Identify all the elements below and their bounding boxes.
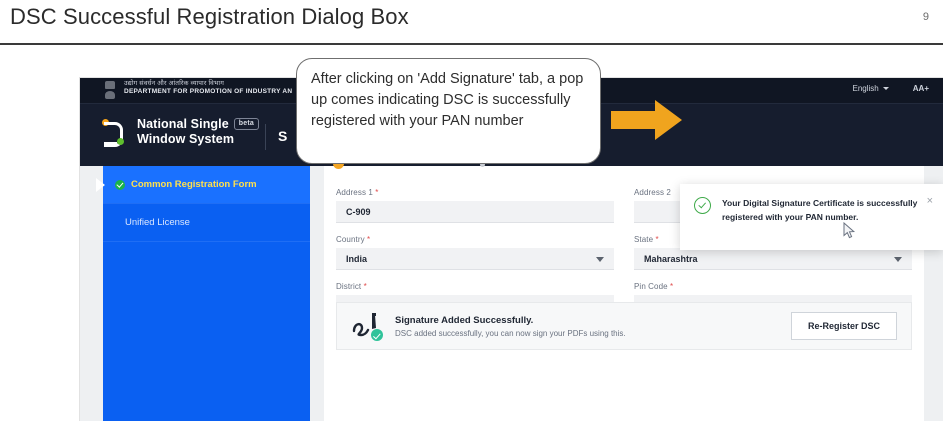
toast-message: Your Digital Signature Certificate is su… xyxy=(722,196,927,238)
page-number: 9 xyxy=(923,11,929,23)
signature-texts: Signature Added Successfully. DSC added … xyxy=(395,315,791,338)
font-size-control[interactable]: AA+ xyxy=(913,84,929,93)
field-label-text: Address 1 xyxy=(336,188,373,197)
state-select[interactable]: Maharashtra xyxy=(634,248,912,270)
field-value: India xyxy=(346,254,367,264)
check-badge-icon xyxy=(371,329,383,341)
brand-divider xyxy=(265,124,266,150)
signature-pen-icon xyxy=(351,311,385,341)
required-marker: * xyxy=(364,282,367,291)
required-marker: * xyxy=(367,235,370,244)
field-label: Address 1 * xyxy=(336,188,614,197)
slide-header: DSC Successful Registration Dialog Box 9 xyxy=(0,0,943,44)
field-value: C-909 xyxy=(346,207,371,217)
header-divider xyxy=(0,43,943,45)
success-check-circle-icon xyxy=(694,197,711,214)
field-label-text: Address 2 xyxy=(634,188,671,197)
language-label: English xyxy=(853,84,879,93)
brand-line-2: Window System xyxy=(137,132,234,146)
required-marker: * xyxy=(656,235,659,244)
language-selector[interactable]: English xyxy=(853,84,889,93)
chevron-down-icon xyxy=(883,87,889,90)
callout-bubble: After clicking on 'Add Signature' tab, a… xyxy=(296,58,601,164)
department-name-english: DEPARTMENT FOR PROMOTION OF INDUSTRY AN xyxy=(124,88,292,96)
field-label: Country * xyxy=(336,235,614,244)
nss-logo-icon xyxy=(102,118,128,146)
field-label: Pin Code * xyxy=(634,282,912,291)
brand-line-1: National Single xyxy=(137,117,229,131)
page-title: DSC Successful Registration Dialog Box xyxy=(10,4,409,30)
arrow-right-pointer-icon xyxy=(96,178,105,192)
callout-text: After clicking on 'Add Signature' tab, a… xyxy=(311,69,586,132)
close-icon[interactable]: × xyxy=(927,196,933,238)
required-marker: * xyxy=(670,282,673,291)
address-1-input[interactable]: C-909 xyxy=(336,201,614,223)
topbar-right-controls: English AA+ xyxy=(853,84,929,93)
beta-badge: beta xyxy=(234,118,259,130)
field-address-1: Address 1 * C-909 xyxy=(336,188,614,223)
chevron-down-icon xyxy=(894,257,902,262)
government-emblem-icon xyxy=(102,81,118,100)
sidebar-item-unified-license[interactable]: Unified License xyxy=(103,204,310,242)
field-label-text: Country xyxy=(336,235,365,244)
field-value: Maharashtra xyxy=(644,254,698,264)
sidebar-item-common-registration-form[interactable]: Common Registration Form xyxy=(103,166,310,204)
sidebar: Common Registration Form Unified License xyxy=(103,166,310,421)
green-check-icon xyxy=(115,180,125,190)
field-label-text: State xyxy=(634,235,653,244)
app-body: Common Registration Form Unified License… xyxy=(80,166,943,421)
chevron-down-icon xyxy=(596,257,604,262)
success-toast: Your Digital Signature Certificate is su… xyxy=(680,184,943,250)
department-name-hindi: उद्योग संवर्धन और आंतरिक व्यापार विभाग xyxy=(124,80,292,88)
sidebar-item-label: Common Registration Form xyxy=(131,179,257,190)
field-label: District * xyxy=(336,282,614,291)
re-register-dsc-button[interactable]: Re-Register DSC xyxy=(791,312,897,340)
brand-logo[interactable]: National Singlebeta Window System xyxy=(102,117,259,147)
signature-title: Signature Added Successfully. xyxy=(395,315,791,326)
sidebar-item-label: Unified License xyxy=(125,217,190,228)
country-select[interactable]: India xyxy=(336,248,614,270)
required-marker: * xyxy=(375,188,378,197)
arrow-right-icon xyxy=(611,99,683,141)
field-label-text: District xyxy=(336,282,361,291)
signature-success-card: Signature Added Successfully. DSC added … xyxy=(336,302,912,350)
brand-name: National Singlebeta Window System xyxy=(137,117,259,147)
field-country: Country * India xyxy=(336,235,614,270)
department-text: उद्योग संवर्धन और आंतरिक व्यापार विभाग D… xyxy=(124,80,292,96)
field-label-text: Pin Code xyxy=(634,282,668,291)
brand-subtitle: S xyxy=(278,128,287,144)
signature-subtitle: DSC added successfully, you can now sign… xyxy=(395,329,791,338)
